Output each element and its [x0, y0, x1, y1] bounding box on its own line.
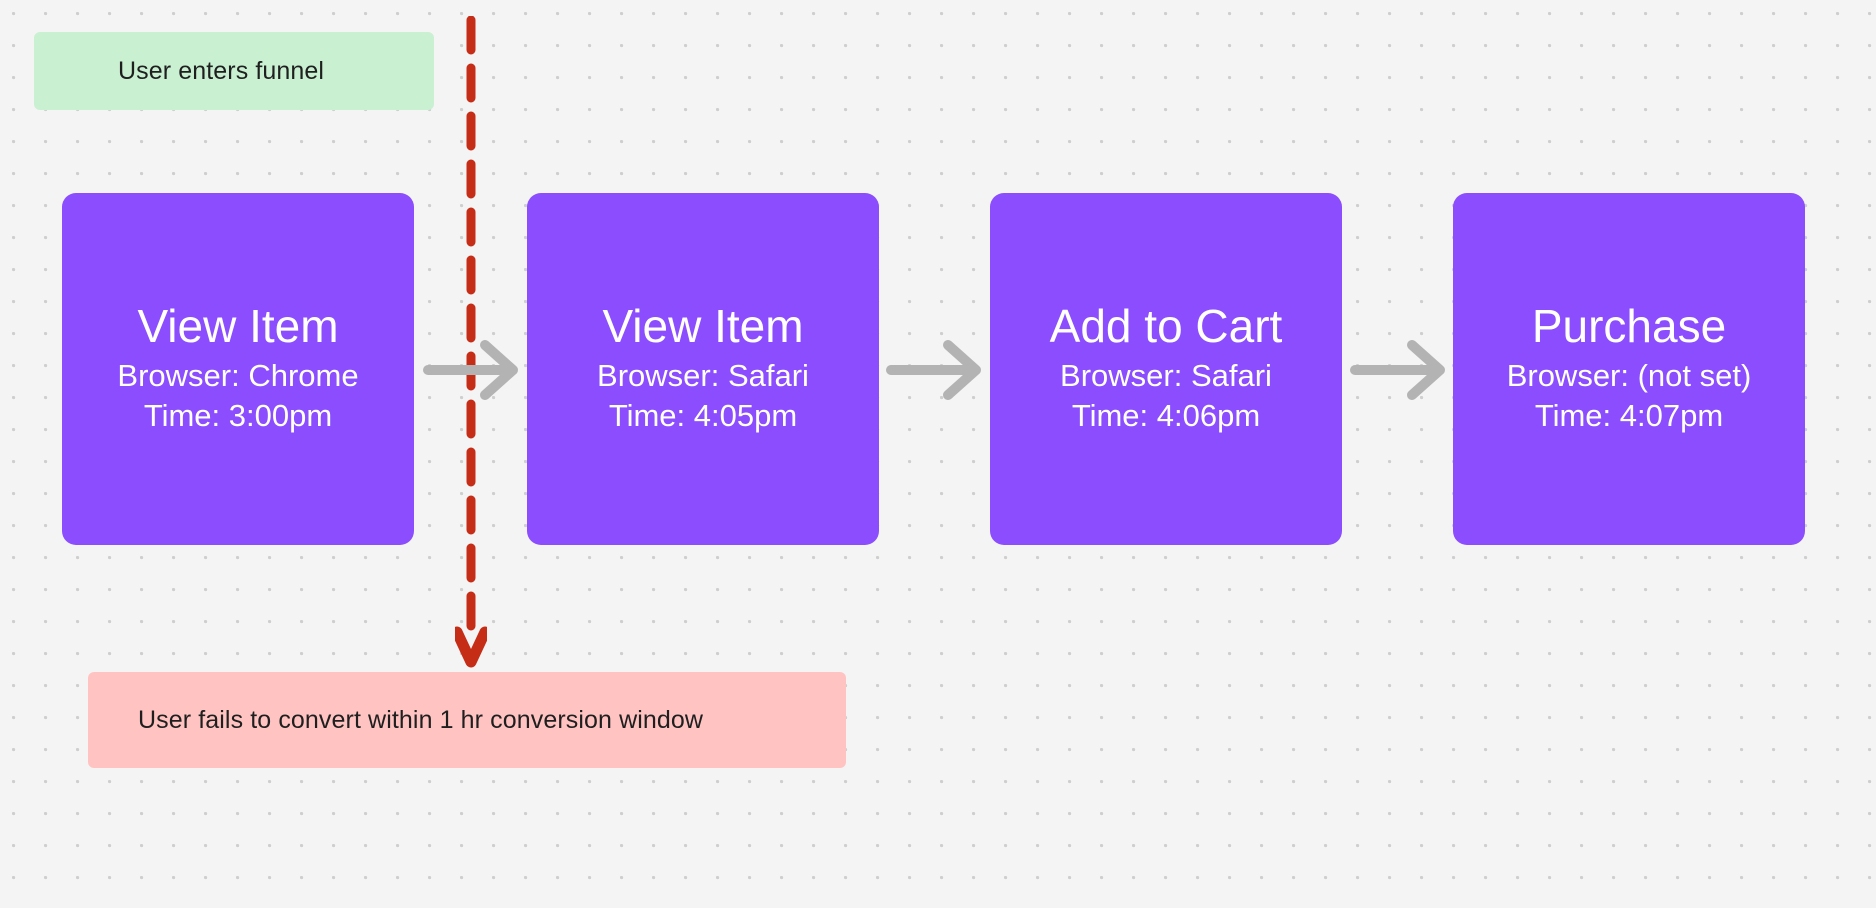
annotation-label: User enters funnel: [118, 56, 324, 86]
event-card-title: View Item: [137, 302, 338, 350]
event-card-time: Time: 4:05pm: [609, 396, 797, 436]
flow-arrow-right-icon: [423, 340, 523, 400]
annotation-user-fails-to-convert: User fails to convert within 1 hr conver…: [88, 672, 846, 768]
event-card-title: Add to Cart: [1050, 302, 1283, 350]
event-card-title: Purchase: [1532, 302, 1726, 350]
event-card-view-item-chrome[interactable]: View Item Browser: Chrome Time: 3:00pm: [62, 193, 414, 545]
event-card-add-to-cart[interactable]: Add to Cart Browser: Safari Time: 4:06pm: [990, 193, 1342, 545]
event-card-purchase[interactable]: Purchase Browser: (not set) Time: 4:07pm: [1453, 193, 1805, 545]
event-card-browser: Browser: Safari: [1060, 356, 1272, 396]
event-card-view-item-safari[interactable]: View Item Browser: Safari Time: 4:05pm: [527, 193, 879, 545]
event-card-title: View Item: [602, 302, 803, 350]
event-card-browser: Browser: Chrome: [117, 356, 358, 396]
event-card-time: Time: 4:07pm: [1535, 396, 1723, 436]
flow-arrow-right-icon: [886, 340, 986, 400]
event-card-time: Time: 4:06pm: [1072, 396, 1260, 436]
flow-arrow-right-icon: [1350, 340, 1450, 400]
annotation-user-enters-funnel: User enters funnel: [34, 32, 434, 110]
event-card-browser: Browser: (not set): [1507, 356, 1752, 396]
annotation-label: User fails to convert within 1 hr conver…: [138, 705, 703, 735]
event-card-time: Time: 3:00pm: [144, 396, 332, 436]
event-card-browser: Browser: Safari: [597, 356, 809, 396]
diagram-canvas: User enters funnel View Item Browser: Ch…: [0, 0, 1876, 908]
